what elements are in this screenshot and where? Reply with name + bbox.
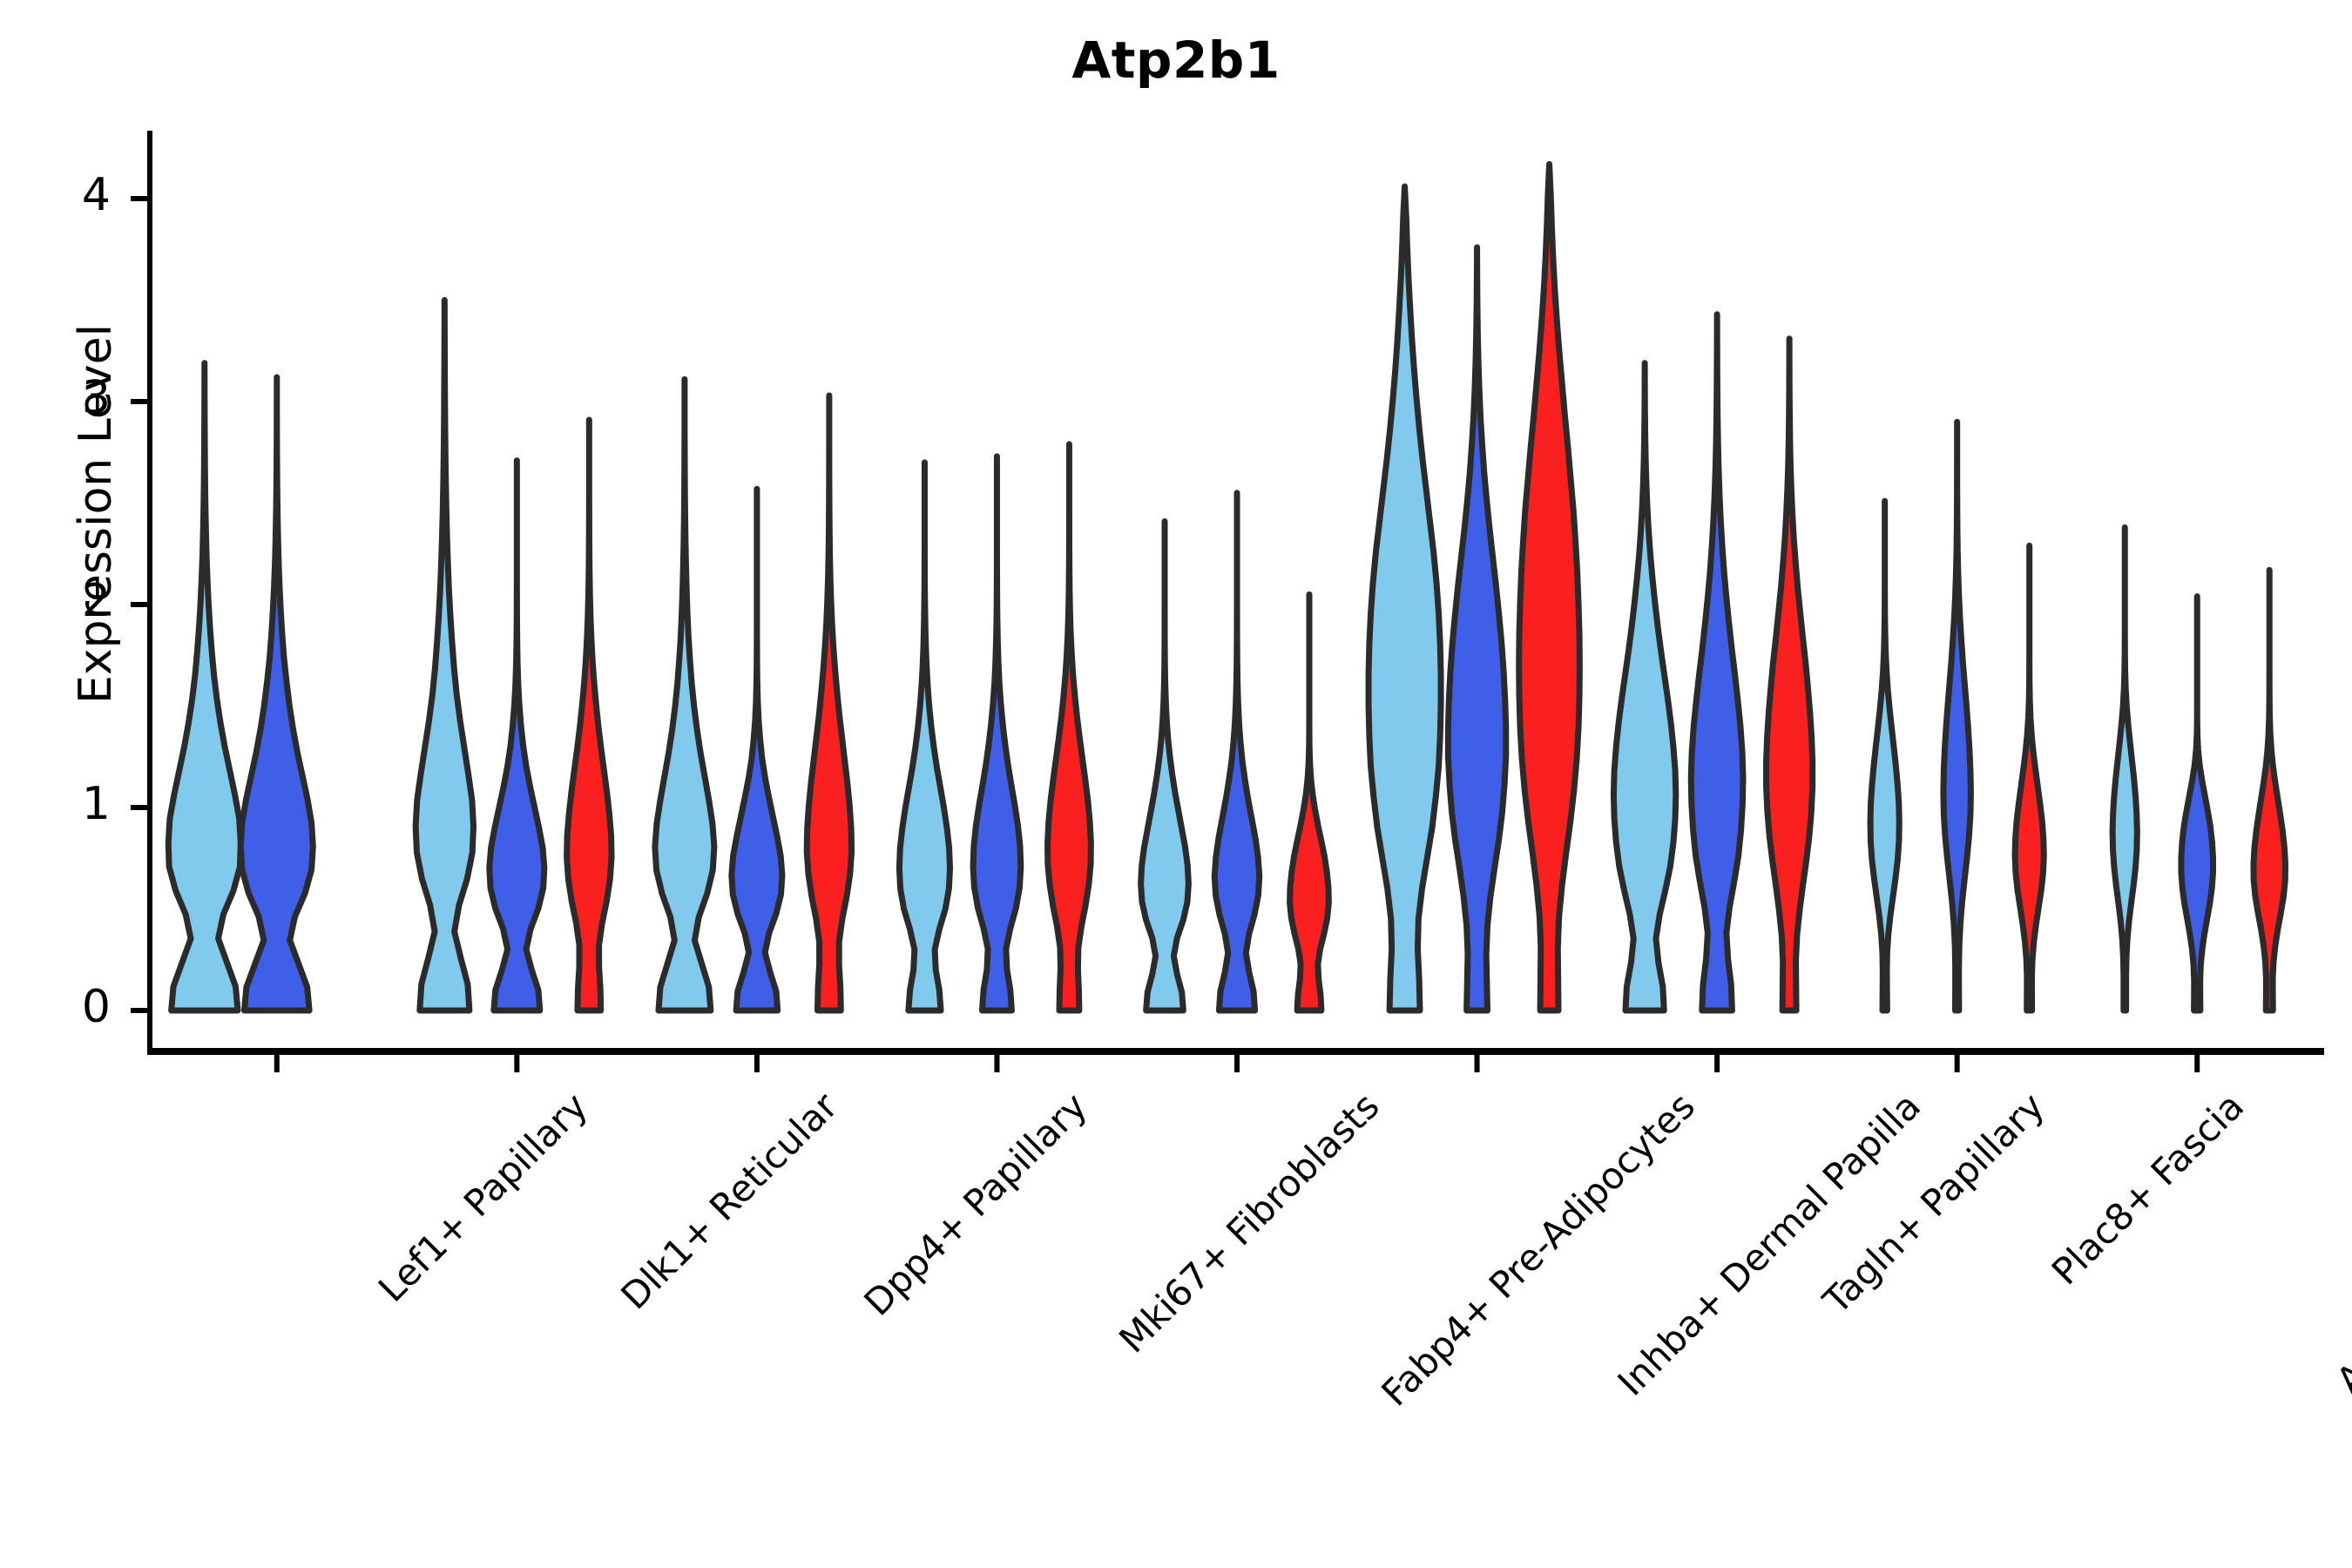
violin-shape [1519,164,1580,1010]
violin-shape [1691,314,1743,1010]
violin-shape [2181,597,2213,1010]
violin-shape [973,456,1021,1010]
violin-shape [1613,363,1675,1010]
violin-plot-figure: Atp2b1 Expression Level 01234 Lef1+ Papi… [0,0,2352,1568]
violin-shape [2015,545,2044,1010]
violin-shape [1767,339,1813,1010]
violin-shape [655,379,714,1010]
violin-shape [1290,594,1329,1010]
violin-shape [416,301,473,1011]
violin-group [168,164,2285,1010]
violin-shape [567,420,612,1010]
violin-shape [490,461,544,1010]
y-tick-label: 4 [50,169,111,221]
plot-canvas [0,0,2352,1568]
violin-shape [2254,570,2286,1010]
violin-shape [1141,521,1189,1010]
violin-shape [1448,247,1505,1010]
violin-shape [2112,527,2137,1010]
y-tick-label: 0 [50,981,111,1033]
y-tick-label: 2 [50,575,111,627]
violin-shape [899,463,950,1010]
violin-shape [240,377,313,1010]
violin-shape [1369,186,1441,1010]
y-ticks [131,199,150,1010]
violin-shape [1048,444,1092,1010]
y-tick-label: 3 [50,372,111,424]
violin-shape [732,489,782,1010]
violin-shape [1943,422,1971,1010]
violin-shape [1214,493,1259,1010]
violin-shape [168,363,240,1010]
violin-shape [807,395,851,1010]
violin-shape [1870,501,1899,1010]
y-tick-label: 1 [50,778,111,830]
